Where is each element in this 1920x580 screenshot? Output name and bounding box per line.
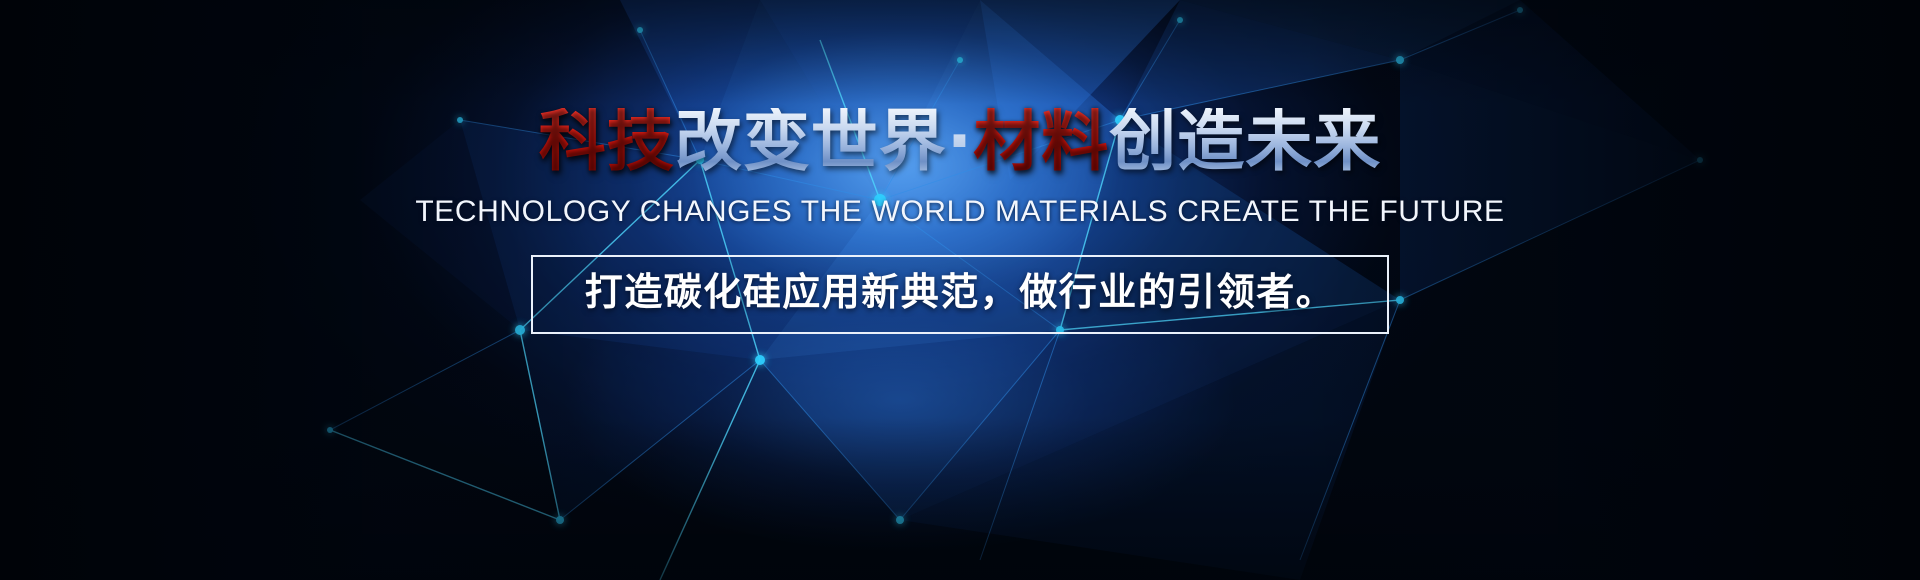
headline-segment-4: 创造未来: [1109, 108, 1381, 175]
headline-segment-0: 科技: [539, 108, 675, 175]
headline-segment-3: 材料: [973, 108, 1109, 175]
banner-content: 科技改变世界·材料创造未来 TECHNOLOGY CHANGES THE WOR…: [0, 0, 1920, 580]
hero-banner: 科技改变世界·材料创造未来 TECHNOLOGY CHANGES THE WOR…: [0, 0, 1920, 580]
headline-segment-1: 改变世界: [675, 108, 947, 175]
slogan-text: 打造碳化硅应用新典范，做行业的引领者。: [585, 271, 1336, 314]
banner-subtitle: TECHNOLOGY CHANGES THE WORLD MATERIALS C…: [415, 195, 1504, 229]
banner-headline: 科技改变世界·材料创造未来: [539, 108, 1381, 175]
slogan-box: 打造碳化硅应用新典范，做行业的引领者。: [531, 255, 1390, 334]
headline-segment-2: ·: [947, 108, 973, 175]
